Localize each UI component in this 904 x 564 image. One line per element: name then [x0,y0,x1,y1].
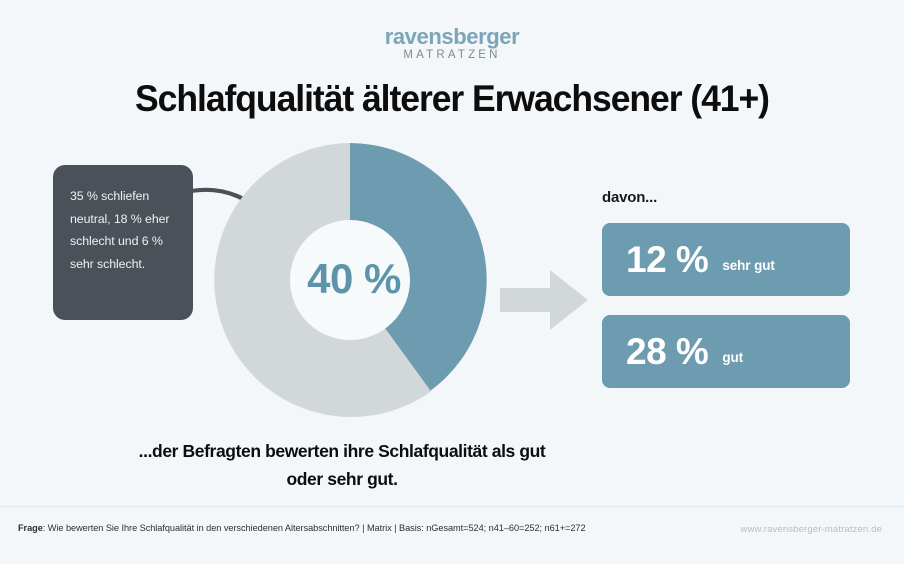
chart-caption: ...der Befragten bewerten ihre Schlafqua… [122,438,562,493]
donut-chart [210,140,490,420]
footer-source-note: Frage: Wie bewerten Sie Ihre Schlafquali… [18,523,586,533]
infographic-canvas: ravensberger MATRATZEN Schlafqualität äl… [0,0,904,564]
stat-value: 28 % [626,333,708,370]
callout-box: 35 % schliefen neutral, 18 % eher schlec… [53,165,193,320]
page-title: Schlafqualität älterer Erwachsener (41+) [18,78,886,120]
brand-logo: ravensberger MATRATZEN [0,26,904,62]
footer-question-text: : Wie bewerten Sie Ihre Schlafqualität i… [43,523,586,533]
stat-value: 12 % [626,241,708,278]
stat-box-sehr-gut: 12 % sehr gut [602,223,850,296]
donut-hole [290,220,410,340]
stat-label: gut [722,350,743,365]
stat-label: sehr gut [722,258,774,273]
right-arrow-icon [500,266,590,334]
footer-divider [0,506,904,507]
stat-box-gut: 28 % gut [602,315,850,388]
callout-text: 35 % schliefen neutral, 18 % eher schlec… [70,185,177,275]
footer-website-link[interactable]: www.ravensberger-matratzen.de [740,524,882,535]
footer-lead-label: Frage [18,523,43,533]
right-panel-heading: davon... [602,189,657,206]
logo-subtitle-text: MATRATZEN [0,50,904,62]
logo-brand-text: ravensberger [0,26,904,48]
